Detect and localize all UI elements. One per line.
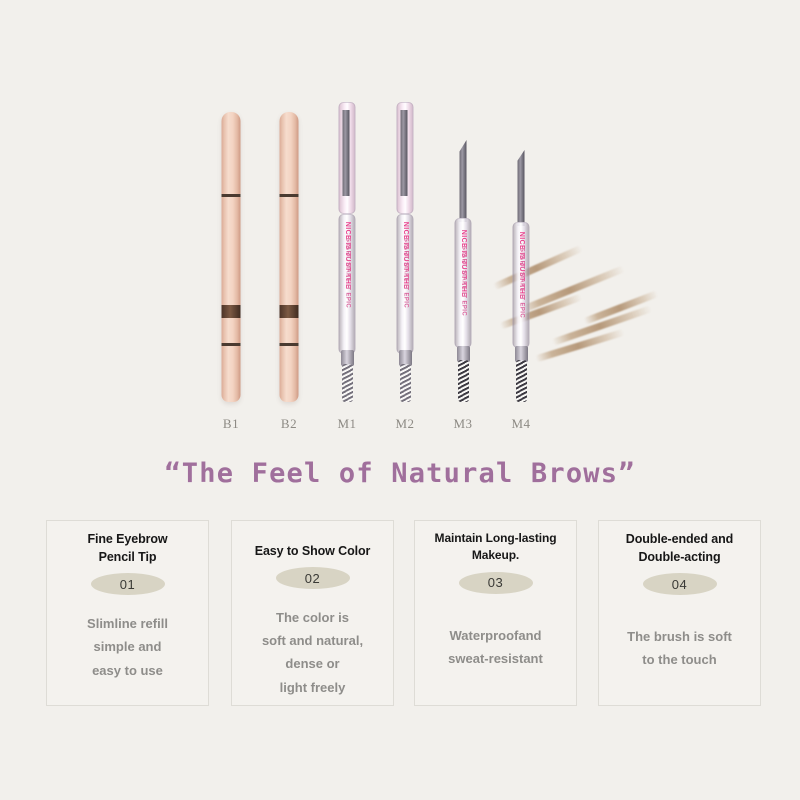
product-item-m1[interactable]: NICE IS JUST THE START. MAKE IT EPIC M1 <box>318 100 376 440</box>
feature-card-number-badge: 03 <box>459 572 533 594</box>
product-showcase: B1 B2 NICE IS JUST THE START. MAKE IT EP… <box>0 0 800 440</box>
brand-subtext: START. MAKE IT EPIC <box>460 246 466 316</box>
feature-card-body-line: dense or <box>239 652 386 675</box>
feature-card-body-line: soft and natural, <box>239 629 386 652</box>
pencil-band-lower <box>222 343 241 346</box>
feature-card-01[interactable]: Fine Eyebrow Pencil Tip 01 Slimline refi… <box>46 520 209 706</box>
pencil-lead-exposed <box>460 140 467 222</box>
product-label-m3: M3 <box>434 416 492 432</box>
brand-subtext: START. MAKE IT EPIC <box>344 238 350 308</box>
spoolie-brush <box>400 364 411 402</box>
pencil-graphic-m3: NICE IS JUST THE START. MAKE IT EPIC <box>455 140 472 402</box>
pencil-band-middle <box>222 305 241 318</box>
pencil-band-upper <box>222 194 241 197</box>
pencil-lead-exposed <box>518 150 525 226</box>
feature-card-title-line: Pencil Tip <box>54 548 201 566</box>
feature-card-03[interactable]: Maintain Long-lasting Makeup. 03 Waterpr… <box>414 520 577 706</box>
feature-card-body: The brush is soft to the touch <box>606 625 753 671</box>
feature-card-title-line: Double-acting <box>606 548 753 566</box>
feature-card-title-line: Makeup. <box>422 547 569 564</box>
product-item-b1[interactable]: B1 <box>202 100 260 440</box>
feature-card-body: Waterproofand sweat-resistant <box>422 624 569 670</box>
feature-card-body-line: Waterproofand <box>422 624 569 647</box>
feature-card-number-badge: 02 <box>276 567 350 589</box>
product-item-m4[interactable]: NICE IS JUST THE START. MAKE IT EPIC M4 <box>492 100 550 440</box>
product-item-b2[interactable]: B2 <box>260 100 318 440</box>
clear-pencil-body: NICE IS JUST THE START. MAKE IT EPIC <box>513 150 530 402</box>
pencil-lead <box>401 110 408 196</box>
feature-card-title: Maintain Long-lasting Makeup. <box>422 530 569 565</box>
product-label-m1: M1 <box>318 416 376 432</box>
pencil-graphic-m2: NICE IS JUST THE START. MAKE IT EPIC <box>397 102 414 402</box>
brand-subtext: START. MAKE IT EPIC <box>402 238 408 308</box>
feature-card-number-badge: 04 <box>643 573 717 595</box>
feature-card-title-line: Double-ended and <box>606 530 753 548</box>
feature-card-title-line: Maintain Long-lasting <box>422 530 569 547</box>
spoolie-brush <box>342 364 353 402</box>
feature-card-body-line: The brush is soft <box>606 625 753 648</box>
nude-pencil-body <box>222 112 241 402</box>
feature-card-list: Fine Eyebrow Pencil Tip 01 Slimline refi… <box>0 520 800 710</box>
pencil-band-lower <box>280 343 299 346</box>
feature-card-body-line: Slimline refill <box>54 612 201 635</box>
pencil-lead <box>343 110 350 196</box>
product-item-m2[interactable]: NICE IS JUST THE START. MAKE IT EPIC M2 <box>376 100 434 440</box>
feature-card-title: Double-ended and Double-acting <box>606 530 753 566</box>
clear-pencil-body: NICE IS JUST THE START. MAKE IT EPIC <box>455 140 472 402</box>
feature-card-title-line: Fine Eyebrow <box>54 530 201 548</box>
feature-card-title: Easy to Show Color <box>239 542 386 560</box>
pencil-band-middle <box>280 305 299 318</box>
feature-card-02[interactable]: Easy to Show Color 02 The color is soft … <box>231 520 394 706</box>
spoolie-brush <box>458 360 469 402</box>
nude-pencil-body <box>280 112 299 402</box>
feature-card-body-line: simple and <box>54 635 201 658</box>
feature-card-body-line: light freely <box>239 676 386 699</box>
spoolie-brush <box>516 360 527 402</box>
feature-card-body-line: easy to use <box>54 659 201 682</box>
feature-card-body-line: sweat-resistant <box>422 647 569 670</box>
feature-card-body-line: to the touch <box>606 648 753 671</box>
pencil-graphic-b1 <box>222 112 241 402</box>
feature-card-body: The color is soft and natural, dense or … <box>239 606 386 699</box>
feature-card-body: Slimline refill simple and easy to use <box>54 612 201 681</box>
product-item-m3[interactable]: NICE IS JUST THE START. MAKE IT EPIC M3 <box>434 100 492 440</box>
brand-subtext: START. MAKE IT EPIC <box>518 248 524 318</box>
feature-card-number-badge: 01 <box>91 573 165 595</box>
product-label-b2: B2 <box>260 416 318 432</box>
pencil-graphic-m4: NICE IS JUST THE START. MAKE IT EPIC <box>513 150 530 402</box>
feature-card-title: Fine Eyebrow Pencil Tip <box>54 530 201 566</box>
clear-pencil-body: NICE IS JUST THE START. MAKE IT EPIC <box>339 102 356 402</box>
clear-pencil-body: NICE IS JUST THE START. MAKE IT EPIC <box>397 102 414 402</box>
product-label-b1: B1 <box>202 416 260 432</box>
pencil-graphic-b2 <box>280 112 299 402</box>
page-headline: “The Feel of Natural Brows” <box>0 458 800 489</box>
feature-card-body-line: The color is <box>239 606 386 629</box>
product-label-m2: M2 <box>376 416 434 432</box>
pencil-band-upper <box>280 194 299 197</box>
feature-card-04[interactable]: Double-ended and Double-acting 04 The br… <box>598 520 761 706</box>
pencil-graphic-m1: NICE IS JUST THE START. MAKE IT EPIC <box>339 102 356 402</box>
product-label-m4: M4 <box>492 416 550 432</box>
feature-card-title-line: Easy to Show Color <box>239 542 386 560</box>
